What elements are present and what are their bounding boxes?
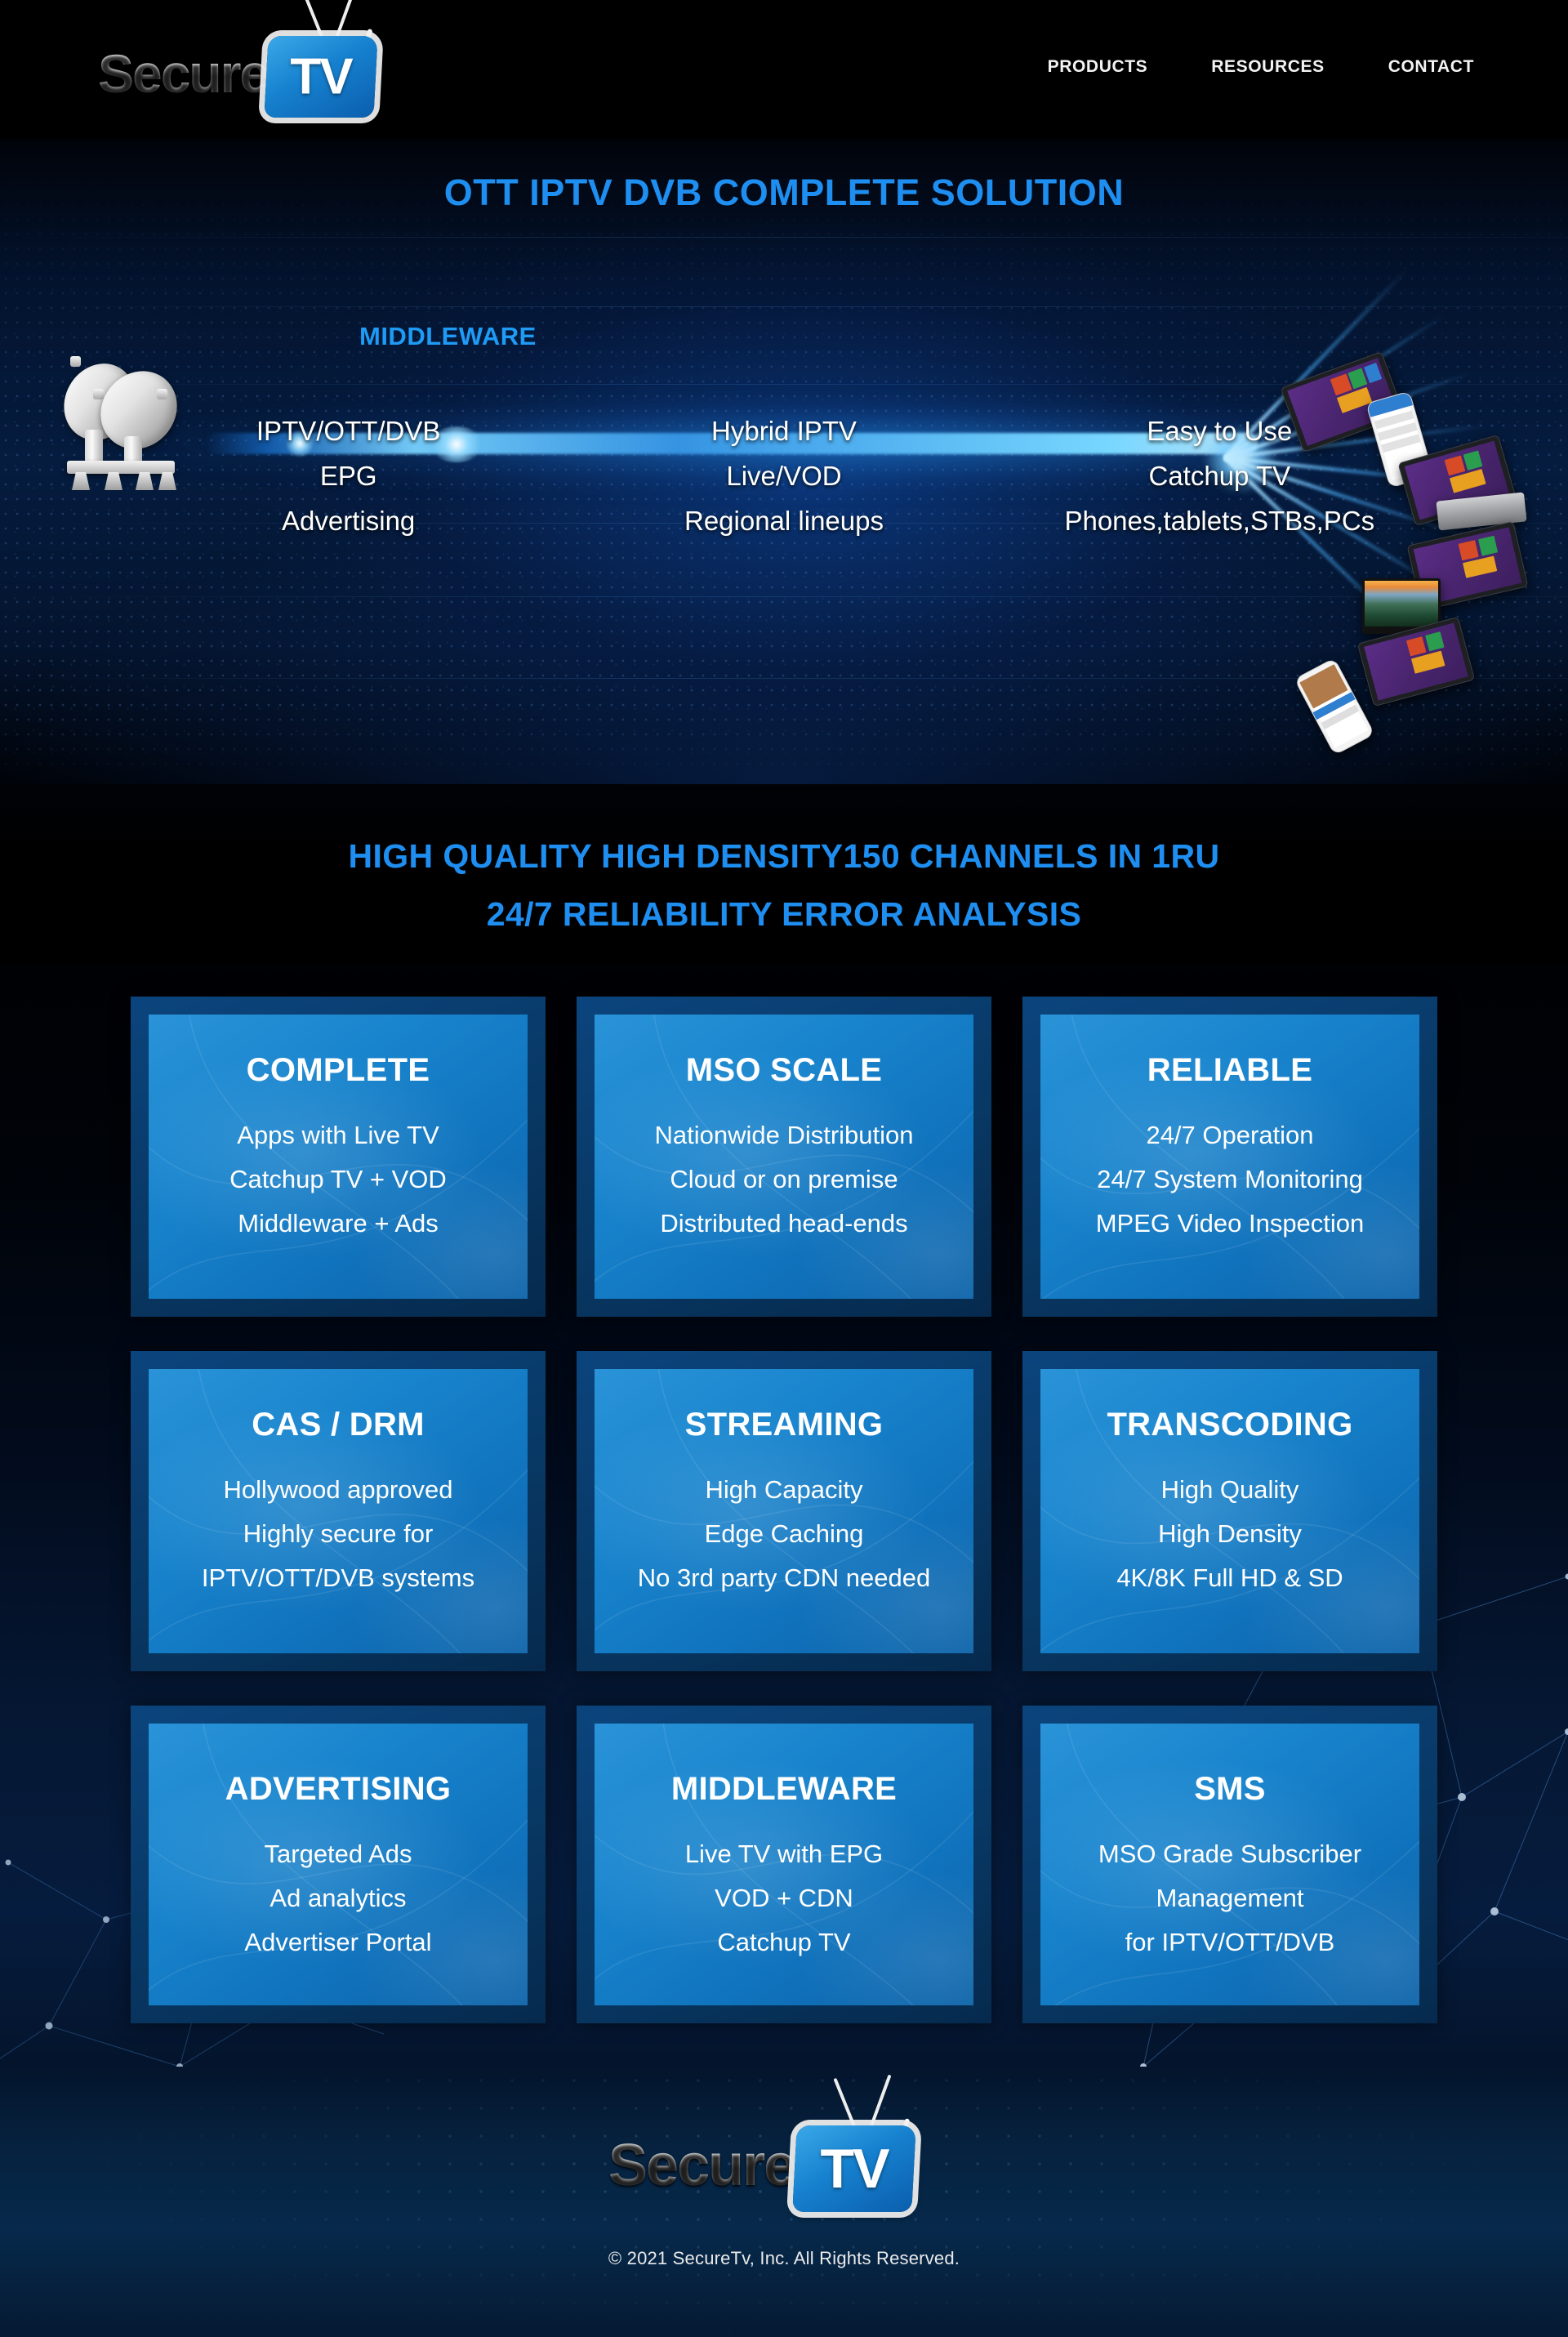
feature-card-line: Ad analytics bbox=[269, 1876, 406, 1920]
brand-logo-footer[interactable]: Secure TV bbox=[608, 2106, 960, 2204]
hero-middleware-label: MIDDLEWARE bbox=[359, 322, 537, 351]
feature-card-line: 4K/8K Full HD & SD bbox=[1116, 1556, 1343, 1600]
highlight-band: HIGH QUALITY HIGH DENSITY150 CHANNELS IN… bbox=[0, 784, 1568, 964]
feature-card-line: Advertiser Portal bbox=[244, 1920, 431, 1965]
feature-card-line: MPEG Video Inspection bbox=[1096, 1202, 1365, 1246]
feature-card-line: Highly secure for bbox=[243, 1512, 434, 1556]
hero-column-1-line-3: Advertising bbox=[131, 498, 566, 543]
feature-card-line: Management bbox=[1156, 1876, 1304, 1920]
feature-card-reliable[interactable]: RELIABLE 24/7 Operation 24/7 System Moni… bbox=[1022, 997, 1437, 1317]
hero-title: OTT IPTV DVB COMPLETE SOLUTION bbox=[0, 172, 1568, 214]
tv-box-icon: TV bbox=[264, 36, 377, 118]
feature-card-advertising[interactable]: ADVERTISING Targeted Ads Ad analytics Ad… bbox=[131, 1706, 546, 2023]
brand-name-secure: Secure bbox=[98, 42, 268, 105]
feature-card-line: Apps with Live TV bbox=[237, 1113, 439, 1157]
feature-card-mso-scale[interactable]: MSO SCALE Nationwide Distribution Cloud … bbox=[577, 997, 991, 1317]
feature-card-line: 24/7 Operation bbox=[1146, 1113, 1313, 1157]
feature-card-line: Catchup TV bbox=[717, 1920, 850, 1965]
hero-column-2-line-1: Hybrid IPTV bbox=[566, 408, 1001, 453]
feature-card-title: MIDDLEWARE bbox=[671, 1771, 897, 1808]
feature-card-line: for IPTV/OTT/DVB bbox=[1125, 1920, 1335, 1965]
feature-card-line: Distributed head-ends bbox=[660, 1202, 907, 1246]
hero-column-2: Hybrid IPTV Live/VOD Regional lineups bbox=[566, 408, 1001, 543]
tv-box-icon: TV bbox=[792, 2125, 916, 2212]
hero-feature-columns: IPTV/OTT/DVB EPG Advertising Hybrid IPTV… bbox=[0, 408, 1568, 543]
highlight-line-2: 24/7 RELIABILITY ERROR ANALYSIS bbox=[0, 895, 1568, 934]
feature-card-line: VOD + CDN bbox=[715, 1876, 853, 1920]
brand-logo-header[interactable]: Secure TV bbox=[98, 18, 400, 108]
nav-item-contact[interactable]: CONTACT bbox=[1388, 57, 1474, 77]
feature-card-middleware[interactable]: MIDDLEWARE Live TV with EPG VOD + CDN Ca… bbox=[577, 1706, 991, 2023]
feature-card-complete[interactable]: COMPLETE Apps with Live TV Catchup TV + … bbox=[131, 997, 546, 1317]
hero-column-3: Easy to Use Catchup TV Phones,tablets,ST… bbox=[1002, 408, 1437, 543]
feature-card-line: Nationwide Distribution bbox=[654, 1113, 913, 1157]
feature-card-transcoding[interactable]: TRANSCODING High Quality High Density 4K… bbox=[1022, 1351, 1437, 1671]
hero-column-2-line-3: Regional lineups bbox=[566, 498, 1001, 543]
feature-card-line: Targeted Ads bbox=[265, 1832, 412, 1876]
feature-card-title: CAS / DRM bbox=[252, 1407, 425, 1443]
feature-card-cas-drm[interactable]: CAS / DRM Hollywood approved Highly secu… bbox=[131, 1351, 546, 1671]
feature-card-line: High Quality bbox=[1161, 1468, 1299, 1512]
hero-column-1-line-2: EPG bbox=[131, 453, 566, 498]
feature-card-line: Hollywood approved bbox=[224, 1468, 453, 1512]
feature-card-line: Middleware + Ads bbox=[238, 1202, 439, 1246]
feature-card-line: Edge Caching bbox=[705, 1512, 864, 1556]
feature-card-title: TRANSCODING bbox=[1107, 1407, 1352, 1443]
nav-item-products[interactable]: PRODUCTS bbox=[1048, 57, 1148, 77]
site-footer: Secure TV © 2021 SecureTv, Inc. All Righ… bbox=[0, 2067, 1568, 2337]
brand-name-tv: TV bbox=[290, 48, 351, 106]
main-navigation: PRODUCTS RESOURCES CONTACT bbox=[1048, 57, 1474, 77]
highlight-line-1: HIGH QUALITY HIGH DENSITY150 CHANNELS IN… bbox=[0, 837, 1568, 876]
feature-card-line: High Density bbox=[1158, 1512, 1302, 1556]
nav-item-resources[interactable]: RESOURCES bbox=[1211, 57, 1324, 77]
feature-card-line: High Capacity bbox=[706, 1468, 863, 1512]
hero-column-1: IPTV/OTT/DVB EPG Advertising bbox=[131, 408, 566, 543]
tv-antenna-left-icon bbox=[302, 0, 325, 41]
hero-column-3-line-2: Catchup TV bbox=[1002, 453, 1437, 498]
feature-card-sms[interactable]: SMS MSO Grade Subscriber Management for … bbox=[1022, 1706, 1437, 2023]
hero-section: OTT IPTV DVB COMPLETE SOLUTION MIDDLEWAR… bbox=[0, 139, 1568, 784]
feature-card-line: No 3rd party CDN needed bbox=[638, 1556, 930, 1600]
brand-name-tv: TV bbox=[821, 2137, 889, 2201]
feature-card-line: Catchup TV + VOD bbox=[229, 1157, 447, 1202]
feature-card-title: COMPLETE bbox=[247, 1052, 430, 1089]
feature-card-line: Cloud or on premise bbox=[670, 1157, 898, 1202]
hero-column-1-line-1: IPTV/OTT/DVB bbox=[131, 408, 566, 453]
features-grid: COMPLETE Apps with Live TV Catchup TV + … bbox=[131, 997, 1437, 2023]
site-header: Secure TV PRODUCTS RESOURCES CONTACT bbox=[0, 0, 1568, 139]
hero-column-3-line-3: Phones,tablets,STBs,PCs bbox=[1002, 498, 1437, 543]
feature-card-streaming[interactable]: STREAMING High Capacity Edge Caching No … bbox=[577, 1351, 991, 1671]
feature-card-title: SMS bbox=[1194, 1771, 1266, 1808]
features-section: COMPLETE Apps with Live TV Catchup TV + … bbox=[0, 964, 1568, 2067]
feature-card-line: 24/7 System Monitoring bbox=[1097, 1157, 1363, 1202]
feature-card-title: MSO SCALE bbox=[686, 1052, 883, 1089]
feature-card-line: IPTV/OTT/DVB systems bbox=[202, 1556, 474, 1600]
feature-card-title: ADVERTISING bbox=[225, 1771, 452, 1808]
copyright-text: © 2021 SecureTv, Inc. All Rights Reserve… bbox=[0, 2248, 1568, 2269]
feature-card-line: MSO Grade Subscriber bbox=[1098, 1832, 1361, 1876]
feature-card-line: Live TV with EPG bbox=[685, 1832, 883, 1876]
brand-name-secure: Secure bbox=[608, 2132, 795, 2199]
feature-card-title: STREAMING bbox=[685, 1407, 884, 1443]
hero-column-3-line-1: Easy to Use bbox=[1002, 408, 1437, 453]
hero-column-2-line-2: Live/VOD bbox=[566, 453, 1001, 498]
feature-card-title: RELIABLE bbox=[1147, 1052, 1312, 1089]
